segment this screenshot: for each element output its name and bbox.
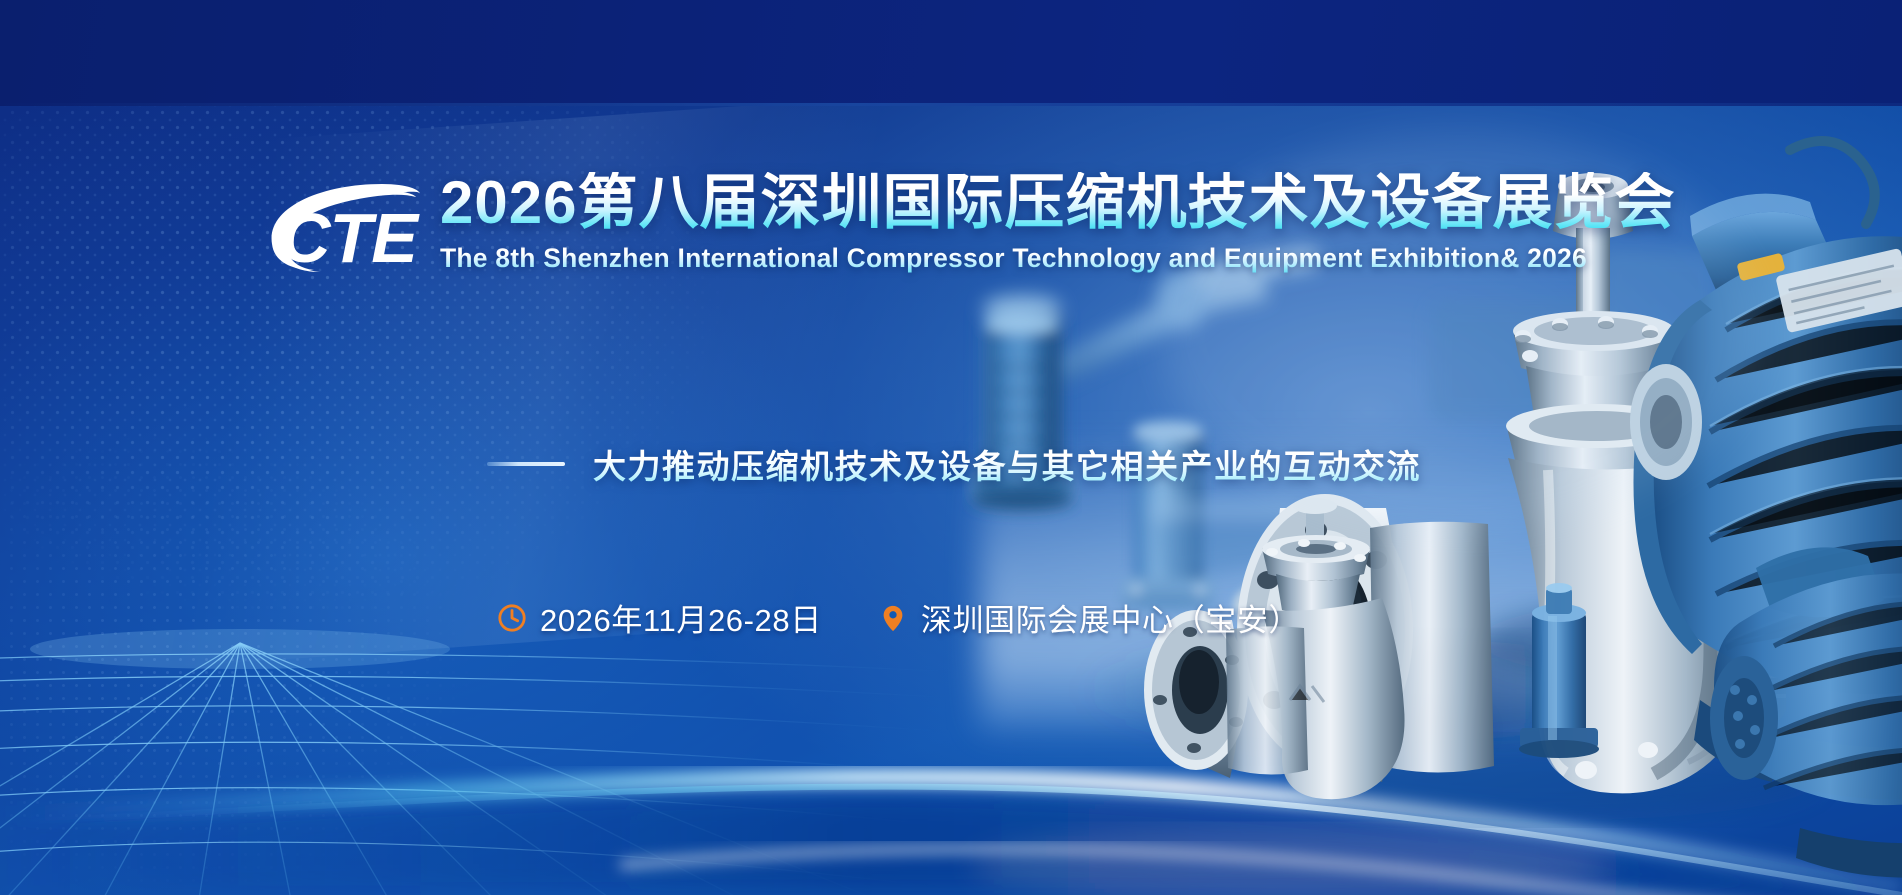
page-title-chinese: 2026第八届深圳国际压缩机技术及设备展览会 [440,172,1675,234]
page-title-english: The 8th Shenzhen International Compresso… [440,243,1675,274]
meta-row: 2026年11月26-28日 深圳国际会展中心（宝安） [497,595,1300,640]
event-date: 2026年11月26-28日 [497,595,822,640]
event-venue: 深圳国际会展中心（宝安） [878,595,1300,640]
svg-text:CTE: CTE [280,199,420,277]
title-block: 2026第八届深圳国际压缩机技术及设备展览会 The 8th Shenzhen … [440,172,1675,274]
clock-icon [497,603,527,633]
tagline-row: 大力推动压缩机技术及设备与其它相关产业的互动交流 [487,440,1421,488]
event-date-text: 2026年11月26-28日 [540,595,822,640]
logo-title-lockup: CTE 2026第八届深圳国际压缩机技术及设备展览会 The 8th Shenz… [262,172,1675,278]
banner-content: CTE 2026第八届深圳国际压缩机技术及设备展览会 The 8th Shenz… [0,0,1902,895]
tagline-rule [487,462,565,466]
event-venue-text: 深圳国际会展中心（宝安） [921,595,1300,640]
cte-swoosh-logo-icon: CTE [262,178,422,278]
exhibition-banner: CTE 2026第八届深圳国际压缩机技术及设备展览会 The 8th Shenz… [0,0,1902,895]
location-pin-icon [878,603,908,633]
tagline-text: 大力推动压缩机技术及设备与其它相关产业的互动交流 [593,440,1421,488]
